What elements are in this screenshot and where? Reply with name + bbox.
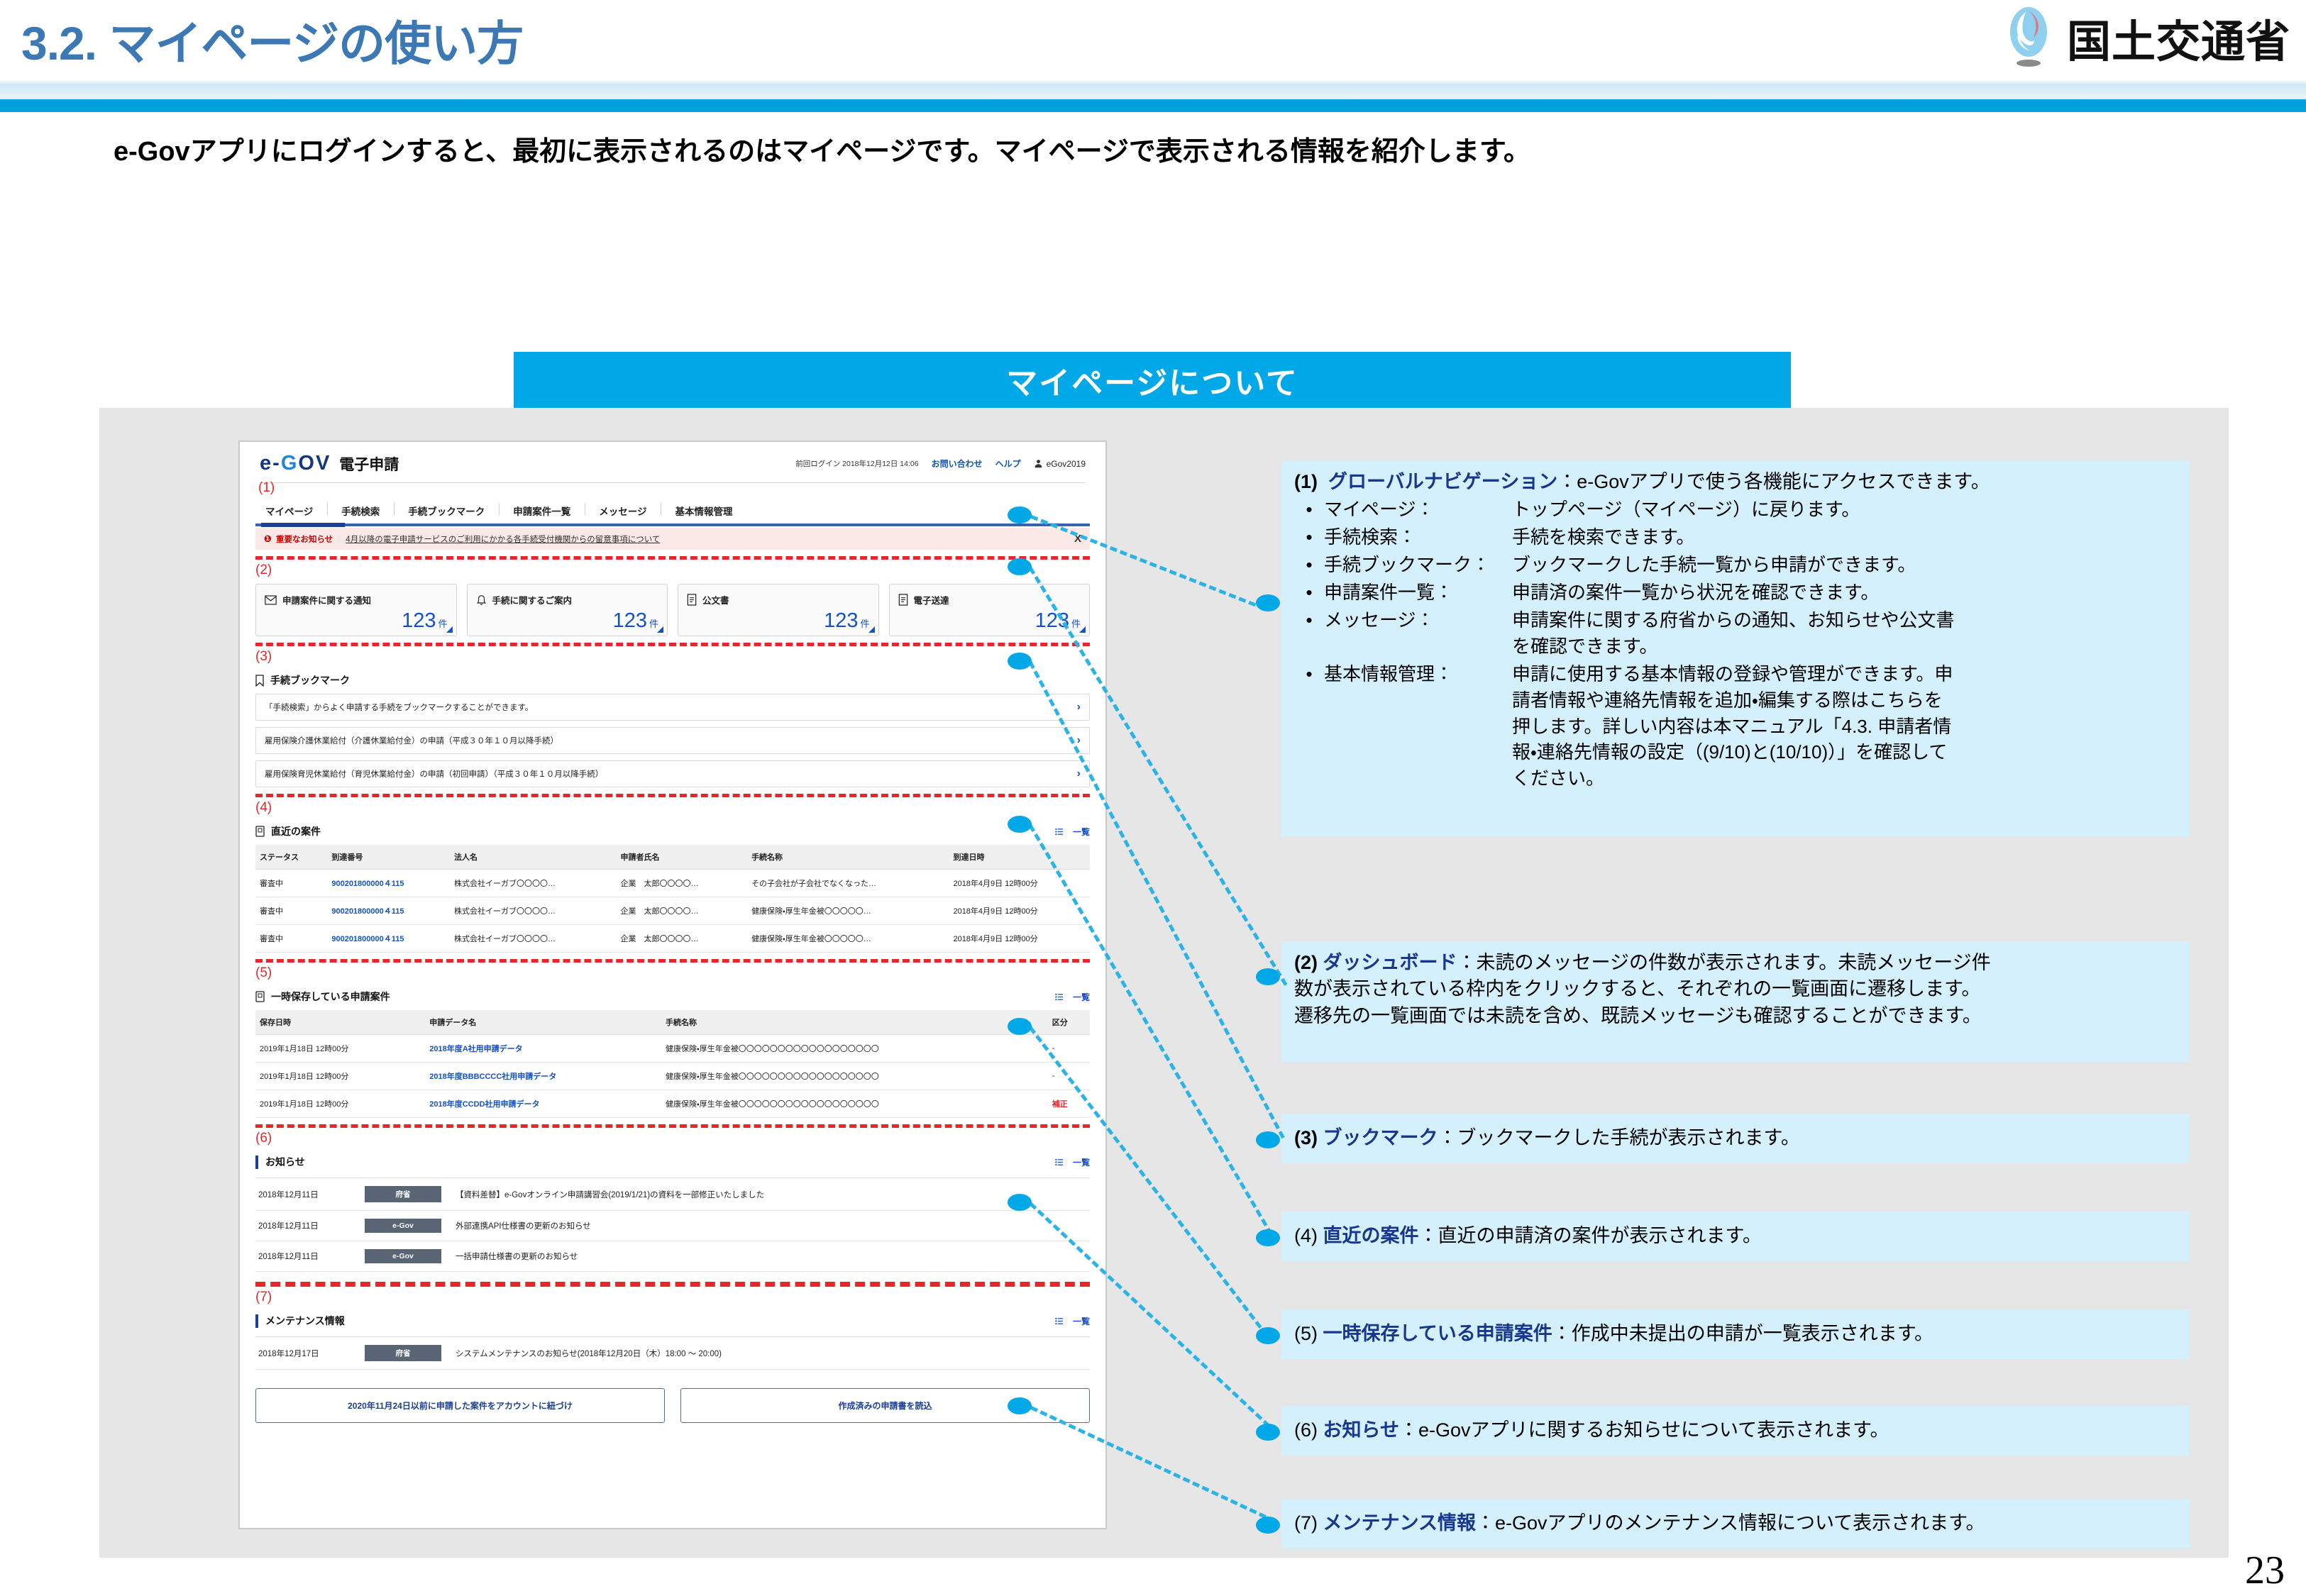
bookmark-row-text: 「手続検索」からよく申請する手続をブックマークすることができます。: [265, 702, 533, 713]
card-corner-icon: [657, 626, 663, 633]
col-applicant: 申請者氏名: [617, 845, 748, 870]
note-3-body: ：ブックマークした手続が表示されます。: [1438, 1127, 1800, 1148]
nav-item-basic-info[interactable]: 基本情報管理: [661, 504, 746, 518]
note-5-keyword: 一時保存している申請案件: [1323, 1323, 1552, 1344]
ministry-logo: 国土交通省: [2002, 6, 2290, 70]
marker-5: (5): [255, 966, 1090, 980]
col-procedure: 手続名称: [747, 845, 949, 870]
intro-text: e-Govアプリにログインすると、最初に表示されるのはマイページです。マイページ…: [114, 129, 1530, 168]
cell-procedure: 健康保険・厚生年金被〇〇〇〇〇…: [747, 897, 949, 925]
list-icon: [1055, 993, 1069, 1001]
note-5: (5) 一時保存している申請案件：作成中未提出の申請が一覧表示されます。: [1281, 1309, 2190, 1359]
note-3-text: (3) ブックマーク：ブックマークした手続が表示されます。: [1294, 1125, 1800, 1151]
note-4-index: (4): [1294, 1225, 1318, 1246]
connector-dot-right-7: [1256, 1517, 1280, 1534]
news-row[interactable]: 2018年12月11日 e-Gov 外部連携API仕様書の更新のお知らせ: [255, 1211, 1090, 1241]
connector-dot-right-4: [1256, 1229, 1280, 1246]
recent-cases-table: ステータス 到達番号 法人名 申請者氏名 手続名称 到達日時 審査中 90020…: [255, 845, 1090, 953]
cell-data-name[interactable]: 2018年度BBBCCCC社用申請データ: [425, 1063, 661, 1090]
cell-status: 審査中: [255, 870, 327, 897]
maintenance-view-all-link[interactable]: 一覧: [1055, 1315, 1090, 1327]
connector-dot-left-2: [1008, 558, 1032, 575]
news-text: 一括申請仕様書の更新のお知らせ: [456, 1251, 1087, 1262]
note-5-index: (5): [1294, 1323, 1318, 1344]
maintenance-row[interactable]: 2018年12月17日 府省 システムメンテナンスのお知らせ(2018年12月2…: [255, 1336, 1090, 1370]
dashboard-card[interactable]: 手続に関するご案内 123件: [467, 584, 668, 636]
col-arrival-number: 到達番号: [327, 845, 450, 870]
note-4-body: ：直近の申請済の案件が表示されます。: [1419, 1225, 1762, 1246]
news-date: 2018年12月11日: [258, 1251, 365, 1262]
egov-logo-v: V: [316, 452, 331, 475]
connector-dot-right-3: [1256, 1131, 1280, 1148]
col-data-name: 申請データ名: [425, 1010, 661, 1035]
cell-procedure-name: 健康保険・厚生年金被〇〇〇〇〇〇〇〇〇〇〇〇〇〇〇〇〇〇: [661, 1035, 1048, 1063]
card-label: 申請案件に関する通知: [282, 593, 371, 606]
cell-saved-date: 2019年1月18日 12時00分: [255, 1035, 425, 1063]
alert-icon: ❶: [264, 533, 272, 545]
marker-7: (7): [255, 1290, 1090, 1304]
note-7-text: (7) メンテナンス情報：e-Govアプリのメンテナンス情報について表示されます…: [1294, 1510, 1985, 1536]
note-1-body: ：e-Govアプリで使う各機能にアクセスできます。: [1557, 471, 1990, 492]
news-badge: e-Gov: [365, 1249, 441, 1263]
cell-applicant: 企業 太郎〇〇〇〇…: [617, 870, 748, 897]
note-1-cont-1: を確認できます。: [1512, 633, 2177, 660]
news-text: 【資料差替】e-Govオンライン申請講習会(2019/1/21)の資料を一部修正…: [456, 1189, 1087, 1200]
recent-heading-label: 直近の案件: [271, 824, 321, 838]
important-notice-bar: ❶ 重要なお知らせ 4月以降の電子申請サービスのご利用にかかる各手続受付機関から…: [255, 528, 1090, 550]
card-label: 公文書: [702, 593, 729, 606]
news-badge: e-Gov: [365, 1219, 441, 1233]
list-item-term: 基本情報管理：: [1324, 661, 1512, 687]
connector-dot-left-5: [1008, 1018, 1032, 1035]
connector-dot-right-5: [1256, 1327, 1280, 1344]
document-list-icon: [255, 826, 271, 837]
nav-item-mypage[interactable]: マイページ: [260, 504, 327, 518]
note-2: (2) ダッシュボード：未読のメッセージの件数が表示されます。未読メッセージ件 …: [1281, 941, 2190, 1062]
nav-underline: [255, 523, 1090, 526]
bottom-button-group: 2020年11月24日以前に申請した案件をアカウントに紐づけ 作成済みの申請書を…: [255, 1388, 1090, 1430]
list-item: •マイページ：トップページ（マイページ）に戻ります。: [1294, 497, 2177, 523]
help-link[interactable]: ヘルプ: [995, 458, 1021, 470]
cell-arrival-number[interactable]: 900201800000４115: [327, 870, 450, 897]
note-4-text: (4) 直近の案件：直近の申請済の案件が表示されます。: [1294, 1223, 1762, 1249]
marker-3: (3): [255, 650, 1090, 663]
egov-app-screenshot: e-GOV 電子申請 前回ログイン 2018年12月12日 14:06 お問い合…: [238, 440, 1107, 1529]
nav-item-application-list[interactable]: 申請案件一覧: [499, 504, 585, 518]
note-1-list-2: •基本情報管理：申請に使用する基本情報の登録や管理ができます。申: [1294, 661, 2177, 687]
global-navigation: マイページ 手続検索 手続ブックマーク 申請案件一覧 メッセージ 基本情報管理: [255, 497, 1090, 523]
bullet: •: [1294, 497, 1324, 523]
egov-logo: e-GOV: [260, 452, 331, 475]
bullet: •: [1294, 607, 1324, 633]
note-1-heading: (1) グローバルナビゲーション：e-Govアプリで使う各機能にアクセスできます…: [1294, 469, 2177, 495]
list-item-term: メッセージ：: [1324, 607, 1512, 633]
news-view-all-link[interactable]: 一覧: [1055, 1156, 1090, 1168]
col-saved-date: 保存日時: [255, 1010, 425, 1035]
user-icon: [1034, 459, 1043, 468]
connector-dot-left-7: [1008, 1397, 1032, 1414]
page-title: 3.2. マイページの使い方: [21, 6, 523, 74]
cell-arrival-number[interactable]: 900201800000４115: [327, 925, 450, 953]
cell-arrival-date: 2018年4月9日 12時00分: [949, 925, 1090, 953]
maintenance-view-all-label: 一覧: [1073, 1315, 1090, 1327]
note-1-list: •マイページ：トップページ（マイページ）に戻ります。 •手続検索：手続を検索でき…: [1294, 497, 2177, 633]
list-item: •手続検索：手続を検索できます。: [1294, 524, 2177, 550]
card-corner-icon: [446, 626, 453, 633]
user-name: eGov2019: [1047, 459, 1086, 469]
marker-4: (4): [255, 801, 1090, 814]
maintenance-section-heading: メンテナンス情報 一覧: [255, 1314, 1090, 1328]
cell-saved-date: 2019年1月18日 12時00分: [255, 1063, 425, 1090]
note-4-keyword: 直近の案件: [1323, 1225, 1419, 1246]
saved-view-all-link[interactable]: 一覧: [1055, 991, 1090, 1003]
note-7: (7) メンテナンス情報：e-Govアプリのメンテナンス情報について表示されます…: [1281, 1499, 2190, 1548]
cell-procedure-name: 健康保険・厚生年金被〇〇〇〇〇〇〇〇〇〇〇〇〇〇〇〇〇〇: [661, 1063, 1048, 1090]
list-item-term: 申請案件一覧：: [1324, 580, 1512, 606]
list-item-desc: 申請案件に関する府省からの通知、お知らせや公文書: [1512, 607, 2177, 633]
note-3-index: (3): [1294, 1127, 1318, 1148]
cell-data-name[interactable]: 2018年度CCDD社用申請データ: [425, 1090, 661, 1118]
marker-divider-1: [255, 556, 1090, 560]
connector-dot-left-4: [1008, 816, 1032, 833]
news-section-heading: お知らせ 一覧: [255, 1155, 1090, 1169]
saved-heading-label: 一時保存している申請案件: [271, 990, 390, 1004]
app-topbar: e-GOV 電子申請 前回ログイン 2018年12月12日 14:06 お問い合…: [255, 442, 1090, 480]
note-2-index: (2): [1294, 952, 1318, 973]
alert-link[interactable]: 4月以降の電子申請サービスのご利用にかかる各手続受付機関からの留意事項について: [346, 533, 660, 545]
cell-applicant: 企業 太郎〇〇〇〇…: [617, 925, 748, 953]
cell-company: 株式会社イーガブ〇〇〇〇…: [450, 870, 616, 897]
last-login-info: 前回ログイン 2018年12月12日 14:06: [795, 458, 918, 469]
maintenance-text: システムメンテナンスのお知らせ(2018年12月20日（木）18:00 ～ 20…: [456, 1348, 1087, 1359]
note-1-cont-5: ください。: [1512, 765, 2177, 792]
cell-procedure-name: 健康保険・厚生年金被〇〇〇〇〇〇〇〇〇〇〇〇〇〇〇〇〇〇: [661, 1090, 1048, 1118]
list-item: •手続ブックマーク：ブックマークした手続一覧から申請ができます。: [1294, 552, 2177, 578]
connector-dot-left-3: [1008, 653, 1032, 670]
content-panel: e-GOV 電子申請 前回ログイン 2018年12月12日 14:06 お問い合…: [99, 408, 2229, 1558]
bookmark-heading-label: 手続ブックマーク: [270, 673, 350, 687]
marker-divider-4: [255, 959, 1090, 963]
marker-6: (6): [255, 1131, 1090, 1145]
list-item: •メッセージ：申請案件に関する府省からの通知、お知らせや公文書: [1294, 607, 2177, 633]
card-corner-icon: [1079, 626, 1086, 633]
note-6-body: ：e-Govアプリに関するお知らせについて表示されます。: [1399, 1419, 1889, 1441]
note-6-keyword: お知らせ: [1323, 1419, 1399, 1441]
recent-view-all-label: 一覧: [1073, 826, 1090, 838]
egov-logo-dash: -: [272, 452, 281, 475]
dashboard-card[interactable]: 申請案件に関する通知 123件: [255, 584, 457, 636]
dashboard-card[interactable]: 電子送達 123件: [889, 584, 1091, 636]
note-7-index: (7): [1294, 1512, 1318, 1534]
list-item: •基本情報管理：申請に使用する基本情報の登録や管理ができます。申: [1294, 661, 2177, 687]
news-date: 2018年12月11日: [258, 1220, 365, 1231]
col-category: 区分: [1048, 1010, 1090, 1035]
user-menu[interactable]: eGov2019: [1034, 459, 1086, 469]
marker-divider-6: [255, 1282, 1090, 1287]
card-count: 123: [613, 609, 647, 632]
mlit-emblem-icon: [2002, 6, 2056, 69]
news-badge: 府省: [365, 1186, 441, 1202]
nav-item-procedure-search[interactable]: 手続検索: [327, 504, 394, 518]
note-3: (3) ブックマーク：ブックマークした手続が表示されます。: [1281, 1114, 2190, 1163]
bookmark-row-text: 雇用保険介護休業給付（介護休業給付金）の申請（平成３０年１０月以降手続）: [265, 735, 558, 746]
cell-procedure: その子会社が子会社でなくなった…: [747, 870, 949, 897]
bookmark-row[interactable]: 雇用保険育児休業給付（育児休業給付金）の申請（初回申請）（平成３０年１０月以降手…: [255, 760, 1090, 787]
note-4: (4) 直近の案件：直近の申請済の案件が表示されます。: [1281, 1212, 2190, 1261]
chevron-right-icon: ›: [1077, 734, 1081, 747]
banner-title: マイページについて: [1006, 358, 1298, 403]
egov-logo-o: O: [298, 452, 316, 475]
nav-item-messages[interactable]: メッセージ: [585, 504, 661, 518]
note-2-keyword: ダッシュボード: [1323, 952, 1457, 973]
cell-status: 審査中: [255, 925, 327, 953]
section-banner: マイページについて: [514, 352, 1791, 409]
note-2-line-1: (2) ダッシュボード：未読のメッセージの件数が表示されます。未読メッセージ件: [1294, 950, 2177, 976]
note-2-body-3: 遷移先の一覧画面では未読を含め、既読メッセージも確認することができます。: [1294, 1003, 2177, 1029]
recent-section-heading: 直近の案件 一覧: [255, 824, 1090, 838]
note-1: (1) グローバルナビゲーション：e-Govアプリで使う各機能にアクセスできます…: [1281, 460, 2190, 836]
note-1-cont-2: 請者情報や連絡先情報を追加・編集する際はこちらを: [1512, 687, 2177, 714]
page-number: 23: [2245, 1548, 2285, 1593]
list-item-term: 手続検索：: [1324, 524, 1512, 550]
alert-label: 重要なお知らせ: [276, 533, 333, 545]
bookmark-section-heading: 手続ブックマーク: [255, 673, 1090, 687]
section-accent-bar: [255, 1156, 258, 1169]
dashboard-card[interactable]: 公文書 123件: [678, 584, 879, 636]
bullet: •: [1294, 552, 1324, 578]
section-accent-bar: [255, 1314, 258, 1328]
list-item-term: マイページ：: [1324, 497, 1512, 523]
saved-view-all-label: 一覧: [1073, 991, 1090, 1003]
link-past-applications-button[interactable]: 2020年11月24日以前に申請した案件をアカウントに紐づけ: [255, 1388, 665, 1423]
document-list-icon: [255, 991, 271, 1002]
dashboard-cards: 申請案件に関する通知 123件 手続に関するご案内 123件: [255, 584, 1090, 636]
list-item-desc: 申請済の案件一覧から状況を確認できます。: [1512, 580, 2177, 606]
marker-2: (2): [255, 563, 1090, 577]
cell-data-name[interactable]: 2018年度A社用申請データ: [425, 1035, 661, 1063]
news-heading-label: お知らせ: [265, 1155, 305, 1169]
bullet: •: [1294, 661, 1324, 687]
nav-item-procedure-bookmark[interactable]: 手続ブックマーク: [394, 504, 499, 518]
table-header-row: 保存日時 申請データ名 手続名称 区分: [255, 1010, 1090, 1035]
saved-applications-table: 保存日時 申請データ名 手続名称 区分 2019年1月18日 12時00分 20…: [255, 1010, 1090, 1118]
cell-procedure: 健康保険・厚生年金被〇〇〇〇〇…: [747, 925, 949, 953]
note-5-body: ：作成中未提出の申請が一覧表示されます。: [1552, 1323, 1933, 1344]
saved-section-heading: 一時保存している申請案件 一覧: [255, 990, 1090, 1004]
egov-logo-subtitle: 電子申請: [339, 453, 399, 475]
note-7-keyword: メンテナンス情報: [1323, 1512, 1476, 1534]
connector-dot-left-1: [1008, 506, 1032, 523]
cell-company: 株式会社イーガブ〇〇〇〇…: [450, 897, 616, 925]
note-5-text: (5) 一時保存している申請案件：作成中未提出の申請が一覧表示されます。: [1294, 1321, 1933, 1347]
card-count: 123: [824, 609, 858, 632]
maintenance-badge: 府省: [365, 1345, 441, 1361]
table-row[interactable]: 2019年1月18日 12時00分 2018年度A社用申請データ 健康保険・厚生…: [255, 1035, 1090, 1063]
note-7-body: ：e-Govアプリのメンテナンス情報について表示されます。: [1476, 1512, 1985, 1534]
table-header-row: ステータス 到達番号 法人名 申請者氏名 手続名称 到達日時: [255, 845, 1090, 870]
ministry-name: 国土交通省: [2067, 6, 2290, 70]
news-row[interactable]: 2018年12月11日 e-Gov 一括申請仕様書の更新のお知らせ: [255, 1241, 1090, 1272]
list-icon: [1055, 1158, 1069, 1166]
chevron-right-icon: ›: [1077, 767, 1081, 780]
cell-arrival-number[interactable]: 900201800000４115: [327, 897, 450, 925]
note-6-text: (6) お知らせ：e-Govアプリに関するお知らせについて表示されます。: [1294, 1417, 1889, 1443]
header-accent-bar: [0, 99, 2306, 112]
table-row[interactable]: 審査中 900201800000４115 株式会社イーガブ〇〇〇〇… 企業 太郎…: [255, 925, 1090, 953]
egov-logo-g: G: [281, 452, 299, 475]
card-label: 電子送達: [914, 593, 949, 606]
note-2-body-1: ：未読のメッセージの件数が表示されます。未読メッセージ件: [1457, 952, 1991, 973]
list-icon: [1055, 1317, 1069, 1325]
egov-logo-e: e: [260, 452, 272, 475]
marker-divider-3: [255, 794, 1090, 797]
bullet: •: [1294, 524, 1324, 550]
note-1-cont-4: 報・連絡先情報の設定（(9/10)と(10/10)）」を確認して: [1512, 739, 2177, 765]
note-1-index: (1): [1294, 471, 1318, 492]
marker-1: (1): [258, 480, 275, 496]
col-company: 法人名: [450, 845, 616, 870]
connector-dot-right-6: [1256, 1424, 1280, 1441]
bullet: •: [1294, 580, 1324, 606]
note-6: (6) お知らせ：e-Govアプリに関するお知らせについて表示されます。: [1281, 1406, 2190, 1456]
note-1-cont-3: 押します。詳しい内容は本マニュアル「4.3. 申請者情: [1512, 714, 2177, 740]
news-date: 2018年12月11日: [258, 1189, 365, 1200]
col-procedure-name: 手続名称: [661, 1010, 1048, 1035]
list-icon: [1055, 828, 1069, 836]
bookmark-row-text: 雇用保険育児休業給付（育児休業給付金）の申請（初回申請）（平成３０年１０月以降手…: [265, 768, 603, 780]
news-text: 外部連携API仕様書の更新のお知らせ: [456, 1220, 1087, 1231]
list-item-desc: トップページ（マイページ）に戻ります。: [1512, 497, 2177, 523]
table-row[interactable]: 審査中 900201800000４115 株式会社イーガブ〇〇〇〇… 企業 太郎…: [255, 870, 1090, 897]
list-item-term: 手続ブックマーク：: [1324, 552, 1512, 578]
note-1-keyword: グローバルナビゲーション: [1328, 471, 1557, 492]
cell-applicant: 企業 太郎〇〇〇〇…: [617, 897, 748, 925]
cell-saved-date: 2019年1月18日 12時00分: [255, 1090, 425, 1118]
list-item-desc: 申請に使用する基本情報の登録や管理ができます。申: [1512, 661, 2177, 687]
note-6-index: (6): [1294, 1419, 1318, 1441]
table-row[interactable]: 審査中 900201800000４115 株式会社イーガブ〇〇〇〇… 企業 太郎…: [255, 897, 1090, 925]
note-3-keyword: ブックマーク: [1323, 1127, 1438, 1148]
col-status: ステータス: [255, 845, 327, 870]
card-count: 123: [402, 609, 436, 632]
mail-icon: [265, 595, 277, 605]
marker-divider-5: [255, 1124, 1090, 1128]
bookmark-row[interactable]: 「手続検索」からよく申請する手続をブックマークすることができます。 ›: [255, 694, 1090, 721]
bookmark-row[interactable]: 雇用保険介護休業給付（介護休業給付金）の申請（平成３０年１０月以降手続） ›: [255, 727, 1090, 754]
table-row[interactable]: 2019年1月18日 12時00分 2018年度BBBCCCC社用申請データ 健…: [255, 1063, 1090, 1090]
connector-dot-right-1: [1256, 594, 1280, 611]
bell-icon: [476, 594, 487, 606]
news-row[interactable]: 2018年12月11日 府省 【資料差替】e-Govオンライン申請講習会(201…: [255, 1177, 1090, 1211]
card-label: 手続に関するご案内: [492, 593, 573, 606]
bookmark-icon: [255, 675, 270, 687]
marker-divider-2: [255, 643, 1090, 646]
table-row[interactable]: 2019年1月18日 12時00分 2018年度CCDD社用申請データ 健康保険…: [255, 1090, 1090, 1118]
cell-status: 審査中: [255, 897, 327, 925]
list-item-desc: ブックマークした手続一覧から申請ができます。: [1512, 552, 2177, 578]
list-item-desc: 手続を検索できます。: [1512, 524, 2177, 550]
document-icon: [687, 594, 697, 606]
connector-dot-right-2: [1256, 968, 1280, 985]
cell-company: 株式会社イーガブ〇〇〇〇…: [450, 925, 616, 953]
card-corner-icon: [868, 626, 875, 633]
connector-dot-left-6: [1008, 1194, 1032, 1211]
document-icon: [898, 594, 908, 606]
note-2-body-2: 数が表示されている枠内をクリックすると、それぞれの一覧画面に遷移します。: [1294, 976, 2177, 1002]
contact-link[interactable]: お問い合わせ: [932, 458, 983, 470]
chevron-right-icon: ›: [1077, 701, 1081, 714]
cell-arrival-date: 2018年4月9日 12時00分: [949, 897, 1090, 925]
col-arrival-date: 到達日時: [949, 845, 1090, 870]
news-view-all-label: 一覧: [1073, 1156, 1090, 1168]
maintenance-date: 2018年12月17日: [258, 1348, 365, 1359]
maintenance-heading-label: メンテナンス情報: [265, 1314, 345, 1328]
list-item: •申請案件一覧：申請済の案件一覧から状況を確認できます。: [1294, 580, 2177, 606]
nav-active-indicator: [261, 523, 345, 527]
recent-view-all-link[interactable]: 一覧: [1055, 826, 1090, 838]
